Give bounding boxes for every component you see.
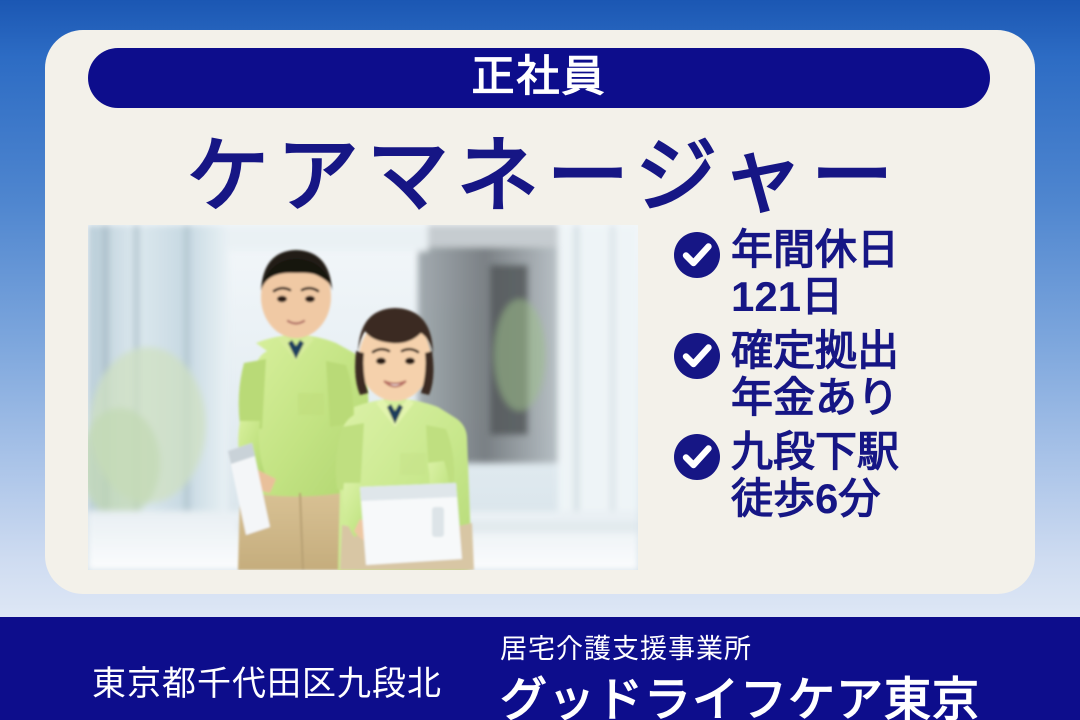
- benefit-text: 確定拠出 年金あり: [731, 327, 1013, 422]
- list-item: 確定拠出 年金あり: [673, 327, 1013, 422]
- employment-type-badge: 正社員: [88, 48, 990, 108]
- benefit-line-2: 徒歩6分: [731, 475, 1013, 522]
- benefit-line-2: 121日: [731, 273, 1013, 320]
- company-name: グッドライフケア東京: [500, 661, 980, 720]
- benefit-line-1: 年間休日: [731, 226, 899, 273]
- benefit-text: 年間休日 121日: [731, 226, 1013, 321]
- list-item: 九段下駅 徒歩6分: [673, 428, 1013, 523]
- employment-type-label: 正社員: [472, 56, 607, 99]
- job-ad-poster: 正社員 ケアマネージャー: [0, 0, 1080, 720]
- benefit-text: 九段下駅 徒歩6分: [731, 428, 1013, 523]
- benefits-list: 年間休日 121日 確定拠出 年金あり: [673, 226, 1013, 523]
- staff-photo: [88, 225, 638, 570]
- check-circle-icon: [673, 332, 721, 380]
- benefit-line-1: 九段下駅: [731, 428, 899, 475]
- footer-bar: 東京都千代田区九段北 居宅介護支援事業所 グッドライフケア東京: [0, 617, 1080, 720]
- benefit-line-1: 確定拠出: [731, 327, 899, 374]
- benefit-line-2: 年金あり: [731, 374, 1013, 421]
- content-card: 正社員 ケアマネージャー: [45, 30, 1035, 594]
- office-address: 東京都千代田区九段北: [92, 656, 442, 705]
- list-item: 年間休日 121日: [673, 226, 1013, 321]
- check-circle-icon: [673, 433, 721, 481]
- check-circle-icon: [673, 231, 721, 279]
- page-title: ケアマネージャー: [45, 134, 1035, 220]
